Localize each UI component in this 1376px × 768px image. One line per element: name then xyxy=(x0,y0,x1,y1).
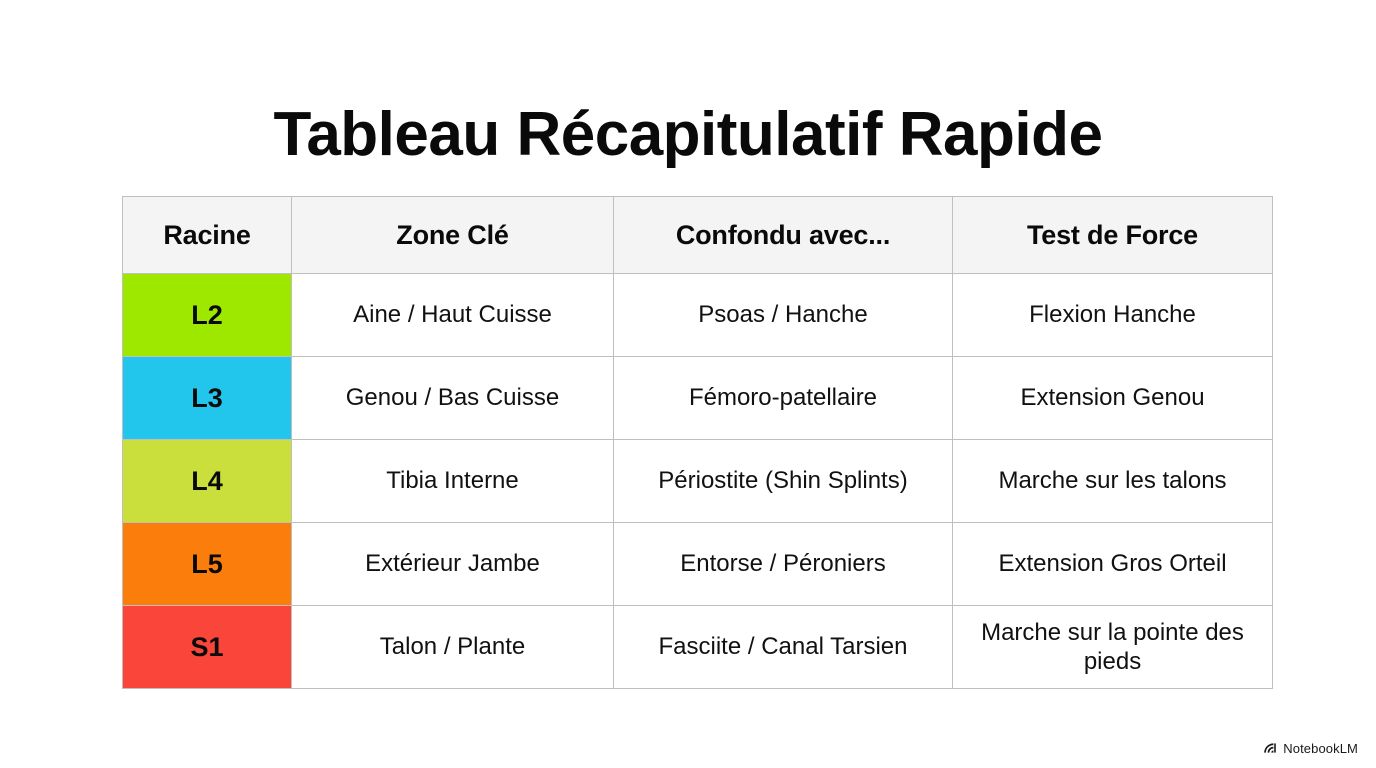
page-title: Tableau Récapitulatif Rapide xyxy=(0,100,1376,169)
slide-canvas: Tableau Récapitulatif Rapide Racine Zone… xyxy=(0,0,1376,768)
zone-cell: Aine / Haut Cuisse xyxy=(292,274,614,357)
confondu-cell: Entorse / Péroniers xyxy=(614,523,953,606)
confondu-cell: Fémoro-patellaire xyxy=(614,357,953,440)
table-body: L2 Aine / Haut Cuisse Psoas / Hanche Fle… xyxy=(123,274,1273,689)
table-row: L5 Extérieur Jambe Entorse / Péroniers E… xyxy=(123,523,1273,606)
test-cell: Extension Genou xyxy=(953,357,1273,440)
test-cell: Flexion Hanche xyxy=(953,274,1273,357)
test-cell: Extension Gros Orteil xyxy=(953,523,1273,606)
column-header-test: Test de Force xyxy=(953,197,1273,274)
column-header-confondu: Confondu avec... xyxy=(614,197,953,274)
notebooklm-arcs-icon xyxy=(1262,740,1278,756)
table-header-row: Racine Zone Clé Confondu avec... Test de… xyxy=(123,197,1273,274)
zone-cell: Tibia Interne xyxy=(292,440,614,523)
confondu-cell: Fasciite / Canal Tarsien xyxy=(614,606,953,689)
notebooklm-label: NotebookLM xyxy=(1283,741,1358,756)
table-row: L2 Aine / Haut Cuisse Psoas / Hanche Fle… xyxy=(123,274,1273,357)
root-cell-s1: S1 xyxy=(123,606,292,689)
table-row: S1 Talon / Plante Fasciite / Canal Tarsi… xyxy=(123,606,1273,689)
root-cell-l3: L3 xyxy=(123,357,292,440)
root-cell-l2: L2 xyxy=(123,274,292,357)
notebooklm-watermark: NotebookLM xyxy=(1262,740,1358,756)
confondu-cell: Psoas / Hanche xyxy=(614,274,953,357)
test-cell: Marche sur la pointe des pieds xyxy=(953,606,1273,689)
root-cell-l4: L4 xyxy=(123,440,292,523)
confondu-cell: Périostite (Shin Splints) xyxy=(614,440,953,523)
recap-table: Racine Zone Clé Confondu avec... Test de… xyxy=(122,196,1273,689)
recap-table-container: Racine Zone Clé Confondu avec... Test de… xyxy=(122,196,1272,689)
column-header-racine: Racine xyxy=(123,197,292,274)
test-cell: Marche sur les talons xyxy=(953,440,1273,523)
table-row: L4 Tibia Interne Périostite (Shin Splint… xyxy=(123,440,1273,523)
table-row: L3 Genou / Bas Cuisse Fémoro-patellaire … xyxy=(123,357,1273,440)
column-header-zone-cle: Zone Clé xyxy=(292,197,614,274)
zone-cell: Genou / Bas Cuisse xyxy=(292,357,614,440)
zone-cell: Extérieur Jambe xyxy=(292,523,614,606)
zone-cell: Talon / Plante xyxy=(292,606,614,689)
table-header: Racine Zone Clé Confondu avec... Test de… xyxy=(123,197,1273,274)
root-cell-l5: L5 xyxy=(123,523,292,606)
